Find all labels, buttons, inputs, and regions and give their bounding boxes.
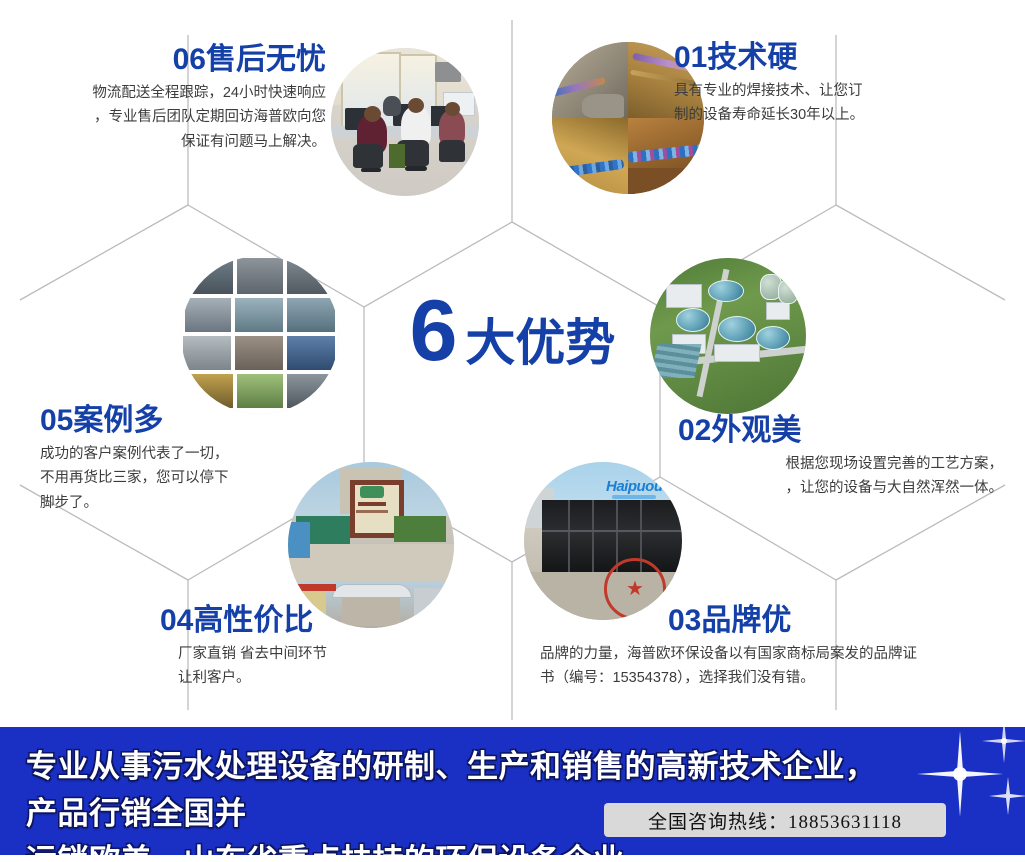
body-line: ，专业售后团队定期回访海普欧向您 bbox=[18, 105, 326, 130]
feature-body-cost-performance: 厂家直销 省去中间环节 让利客户。 bbox=[178, 642, 460, 692]
body-line: 不用再货比三家，您可以停下 bbox=[40, 466, 320, 491]
infographic-root: 06售后无忧 物流配送全程跟踪，24小时快速响应 ，专业售后团队定期回访海普欧向… bbox=[0, 0, 1025, 862]
body-line: 物流配送全程跟踪，24小时快速响应 bbox=[18, 81, 326, 106]
feature-heading-brand: 03品牌优 bbox=[668, 605, 1005, 637]
feature-heading-after-sales: 06售后无忧 bbox=[18, 44, 326, 76]
hotline-text: 全国咨询热线：18853631118 bbox=[648, 807, 902, 834]
body-line: 书（编号：15354378），选择我们没有错。 bbox=[540, 666, 1005, 691]
body-line: 让利客户。 bbox=[178, 666, 460, 691]
feature-body-cases: 成功的客户案例代表了一切， 不用再货比三家，您可以停下 脚步了。 bbox=[40, 442, 320, 517]
feature-cases: 05案例多 成功的客户案例代表了一切， 不用再货比三家，您可以停下 脚步了。 bbox=[40, 405, 320, 516]
hotline-badge[interactable]: 全国咨询热线：18853631118 bbox=[604, 803, 946, 837]
center-label: 大优势 bbox=[465, 318, 615, 368]
feature-body-after-sales: 物流配送全程跟踪，24小时快速响应 ，专业售后团队定期回访海普欧向您 保证有问题… bbox=[18, 81, 326, 156]
feature-cost-performance: 04高性价比 厂家直销 省去中间环节 让利客户。 bbox=[160, 605, 460, 691]
office-team-photo bbox=[331, 48, 479, 196]
feature-appearance: 02外观美 根据您现场设置完善的工艺方案， ，让您的设备与大自然浑然一体。 bbox=[678, 415, 1003, 501]
sparkle-icon bbox=[985, 773, 1025, 819]
center-number: 6 bbox=[410, 288, 456, 374]
feature-body-appearance: 根据您现场设置完善的工艺方案， ，让您的设备与大自然浑然一体。 bbox=[678, 452, 1003, 502]
feature-heading-appearance: 02外观美 bbox=[678, 415, 1003, 447]
feature-heading-cases: 05案例多 bbox=[40, 405, 320, 437]
body-line: 品牌的力量，海普欧环保设备以有国家商标局案发的品牌证 bbox=[540, 642, 1005, 667]
body-line: ，让您的设备与大自然浑然一体。 bbox=[678, 476, 1003, 501]
feature-technology: 01技术硬 具有专业的焊接技术、让您订 制的设备寿命延长30年以上。 bbox=[674, 42, 984, 128]
feature-body-brand: 品牌的力量，海普欧环保设备以有国家商标局案发的品牌证 书（编号：15354378… bbox=[540, 642, 1005, 692]
body-line: 脚步了。 bbox=[40, 491, 320, 516]
feature-after-sales: 06售后无忧 物流配送全程跟踪，24小时快速响应 ，专业售后团队定期回访海普欧向… bbox=[18, 44, 326, 155]
body-line: 制的设备寿命延长30年以上。 bbox=[674, 103, 984, 128]
feature-heading-technology: 01技术硬 bbox=[674, 42, 984, 74]
body-line: 具有专业的焊接技术、让您订 bbox=[674, 79, 984, 104]
feature-body-technology: 具有专业的焊接技术、让您订 制的设备寿命延长30年以上。 bbox=[674, 79, 984, 129]
body-line: 厂家直销 省去中间环节 bbox=[178, 642, 460, 667]
body-line: 根据您现场设置完善的工艺方案， bbox=[678, 452, 1003, 477]
feature-brand: 03品牌优 品牌的力量，海普欧环保设备以有国家商标局案发的品牌证 书（编号：15… bbox=[540, 605, 1005, 691]
body-line: 保证有问题马上解决。 bbox=[18, 130, 326, 155]
brand-watermark: Haipuou bbox=[606, 478, 663, 495]
body-line: 成功的客户案例代表了一切， bbox=[40, 442, 320, 467]
banner-text: 专业从事污水处理设备的研制、生产和销售的高新技术企业，产品行销全国并 远销欧美，… bbox=[26, 743, 906, 855]
banner-line-2: 远销欧美，山东省重点扶持的环保设备企业。 bbox=[26, 837, 906, 855]
equipment-brand-photo: Haipuou ★ bbox=[524, 462, 682, 620]
center-headline: 6 大优势 bbox=[0, 288, 1025, 374]
feature-heading-cost-performance: 04高性价比 bbox=[160, 605, 460, 637]
